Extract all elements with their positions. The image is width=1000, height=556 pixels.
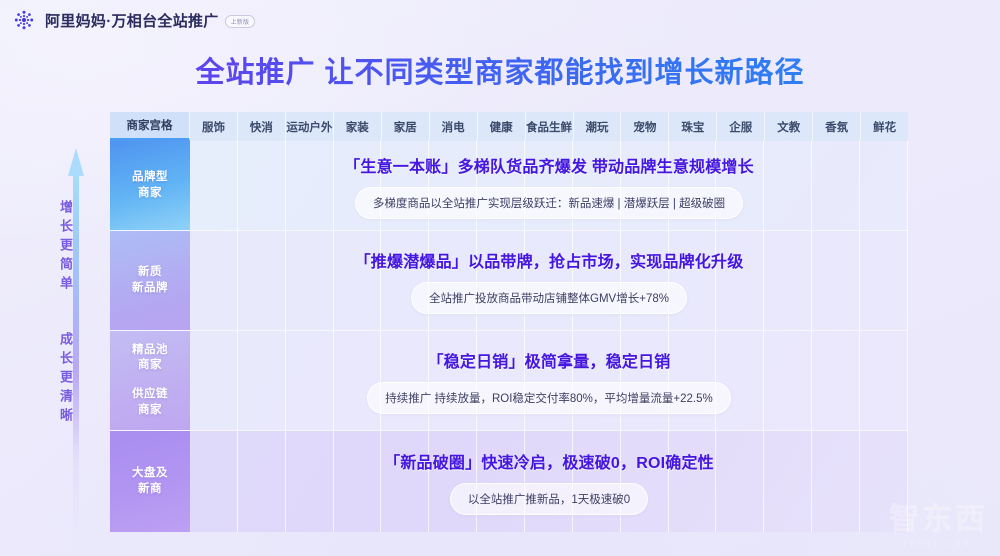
grid-cell <box>477 141 525 230</box>
grid-cell <box>190 231 238 330</box>
grid-cell <box>477 331 525 430</box>
grid-cell <box>621 431 669 532</box>
header-cell-category: 运动户外 <box>286 112 334 141</box>
header-cell-category: 食品生鲜 <box>526 112 574 141</box>
grid-cell <box>525 431 573 532</box>
page-title: 全站推广 让不同类型商家都能找到增长新路径 <box>0 49 1000 91</box>
table-header-row: 商家宫格 服饰快消运动户外家装家居消电健康食品生鲜潮玩宠物珠宝企服文教香氛鲜花 <box>110 112 908 141</box>
grid-cell <box>477 431 525 532</box>
grid-cell <box>334 231 382 330</box>
row-label-text: 大盘及新商 <box>132 466 168 497</box>
header-cell-category: 文教 <box>765 112 813 141</box>
grid-cell <box>525 141 573 230</box>
header-cell-category: 鲜花 <box>861 112 908 141</box>
watermark-url: zhidx.com <box>889 539 988 548</box>
grid-cell <box>669 231 717 330</box>
growth-axis: 增长更简单 成长更清晰 <box>44 146 110 534</box>
grid-cell <box>190 331 238 430</box>
header-cell-category: 快消 <box>238 112 286 141</box>
grid-cell <box>812 141 860 230</box>
brand-name-text: 阿里妈妈·万相台全站推广 <box>45 13 219 30</box>
axis-label-bottom: 成长更清晰 <box>50 332 72 427</box>
grid-cell <box>764 331 812 430</box>
grid-cell <box>238 231 286 330</box>
grid-cell <box>429 431 477 532</box>
grid-cell <box>429 331 477 430</box>
row-label-text: 精品池商家 <box>132 343 168 374</box>
row-label-text: 品牌型商家 <box>132 170 168 201</box>
grid-cell <box>573 231 621 330</box>
grid-cell <box>764 231 812 330</box>
brand-bar: 阿里妈妈·万相台全站推广上新版 <box>12 8 255 32</box>
row-cells: 「生意一本账」多梯队货品齐爆发 带动品牌生意规模增长多梯度商品以全站推广实现层级… <box>190 141 908 230</box>
grid-cell <box>286 141 334 230</box>
header-cell-category: 潮玩 <box>574 112 622 141</box>
grid-cell <box>669 141 717 230</box>
grid-cell <box>716 331 764 430</box>
row-cells: 「推爆潜爆品」以品带牌，抢占市场，实现品牌化升级全站推广投放商品带动店铺整体GM… <box>190 231 908 330</box>
row-label: 精品池商家供应链商家 <box>110 331 190 430</box>
grid-cell <box>860 231 908 330</box>
table-body: 品牌型商家「生意一本账」多梯队货品齐爆发 带动品牌生意规模增长多梯度商品以全站推… <box>110 141 908 532</box>
grid-cell <box>812 231 860 330</box>
grid-cell <box>334 331 382 430</box>
grid-cell <box>621 141 669 230</box>
table-row: 大盘及新商「新品破圈」快速冷启，极速破0，ROI确定性以全站推广推新品，1天极速… <box>110 431 908 532</box>
grid-cell <box>429 141 477 230</box>
header-cell-category: 珠宝 <box>669 112 717 141</box>
header-cell-category: 消电 <box>430 112 478 141</box>
grid-cell <box>190 431 238 532</box>
row-cells: 「新品破圈」快速冷启，极速破0，ROI确定性以全站推广推新品，1天极速破0 <box>190 431 908 532</box>
header-cell-merchant-grid: 商家宫格 <box>110 112 190 141</box>
merchant-matrix-table: 商家宫格 服饰快消运动户外家装家居消电健康食品生鲜潮玩宠物珠宝企服文教香氛鲜花 … <box>110 112 908 532</box>
grid-cell <box>764 141 812 230</box>
grid-cell <box>669 431 717 532</box>
grid-cell <box>286 331 334 430</box>
grid-cell <box>573 141 621 230</box>
grid-cell <box>812 331 860 430</box>
row-label: 新质新品牌 <box>110 231 190 330</box>
grid-cell <box>860 431 908 532</box>
grid-cell <box>429 231 477 330</box>
grid-cell <box>286 431 334 532</box>
row-label-text: 新质新品牌 <box>132 265 168 296</box>
grid-cell <box>334 141 382 230</box>
grid-cell <box>573 431 621 532</box>
grid-cell <box>190 141 238 230</box>
header-cell-category: 宠物 <box>621 112 669 141</box>
grid-cell <box>669 331 717 430</box>
grid-cell <box>716 231 764 330</box>
header-cell-category: 家居 <box>382 112 430 141</box>
grid-cell <box>238 331 286 430</box>
grid-cell <box>238 431 286 532</box>
grid-cell <box>573 331 621 430</box>
header-cell-category: 服饰 <box>190 112 238 141</box>
brand-name: 阿里妈妈·万相台全站推广上新版 <box>45 10 255 31</box>
header-cell-category: 香氛 <box>813 112 861 141</box>
header-cell-category: 健康 <box>478 112 526 141</box>
table-row: 品牌型商家「生意一本账」多梯队货品齐爆发 带动品牌生意规模增长多梯度商品以全站推… <box>110 141 908 231</box>
row-label: 品牌型商家 <box>110 141 190 230</box>
header-cell-category: 企服 <box>717 112 765 141</box>
grid-cell <box>381 231 429 330</box>
grid-cell <box>860 331 908 430</box>
axis-label-top: 增长更简单 <box>50 200 72 295</box>
grid-cell <box>716 141 764 230</box>
row-label: 大盘及新商 <box>110 431 190 532</box>
grid-cell <box>860 141 908 230</box>
grid-cell <box>812 431 860 532</box>
grid-cell <box>381 331 429 430</box>
table-row: 精品池商家供应链商家「稳定日销」极简拿量，稳定日销持续推广 持续放量，ROI稳定… <box>110 331 908 431</box>
brand-badge: 上新版 <box>225 15 256 28</box>
grid-cell <box>334 431 382 532</box>
table-row: 新质新品牌「推爆潜爆品」以品带牌，抢占市场，实现品牌化升级全站推广投放商品带动店… <box>110 231 908 331</box>
grid-cell <box>621 231 669 330</box>
grid-cell <box>381 431 429 532</box>
starburst-icon <box>12 8 36 32</box>
row-label-text: 供应链商家 <box>132 387 168 418</box>
grid-cell <box>286 231 334 330</box>
grid-cell <box>381 141 429 230</box>
grid-cell <box>764 431 812 532</box>
grid-cell <box>716 431 764 532</box>
header-cell-category: 家装 <box>334 112 382 141</box>
grid-cell <box>525 231 573 330</box>
grid-cell <box>525 331 573 430</box>
grid-cell <box>621 331 669 430</box>
row-cells: 「稳定日销」极简拿量，稳定日销持续推广 持续放量，ROI稳定交付率80%，平均增… <box>190 331 908 430</box>
grid-cell <box>477 231 525 330</box>
grid-cell <box>238 141 286 230</box>
